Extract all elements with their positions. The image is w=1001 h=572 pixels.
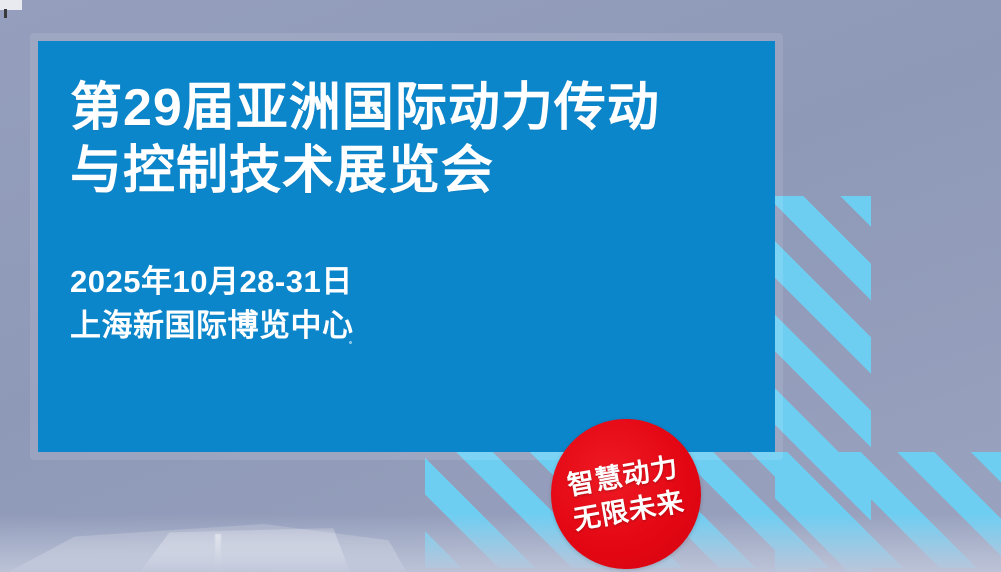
top-left-edge-tick [4,9,7,18]
title-panel: 第29届亚洲国际动力传动 与控制技术展览会 2025年10月28-31日 上海新… [38,41,775,452]
event-details: 2025年10月28-31日 上海新国际博览中心 [70,260,745,348]
poster-title-line-2: 与控制技术展览会 [70,140,745,203]
exhibition-poster: 第29届亚洲国际动力传动 与控制技术展览会 2025年10月28-31日 上海新… [0,0,1001,572]
bottom-fade-overlay [0,514,1001,572]
panel-speck [349,341,352,344]
event-venue: 上海新国际博览中心 [70,304,745,348]
poster-title-line-1: 第29届亚洲国际动力传动 [70,77,745,140]
event-date: 2025年10月28-31日 [70,260,745,304]
